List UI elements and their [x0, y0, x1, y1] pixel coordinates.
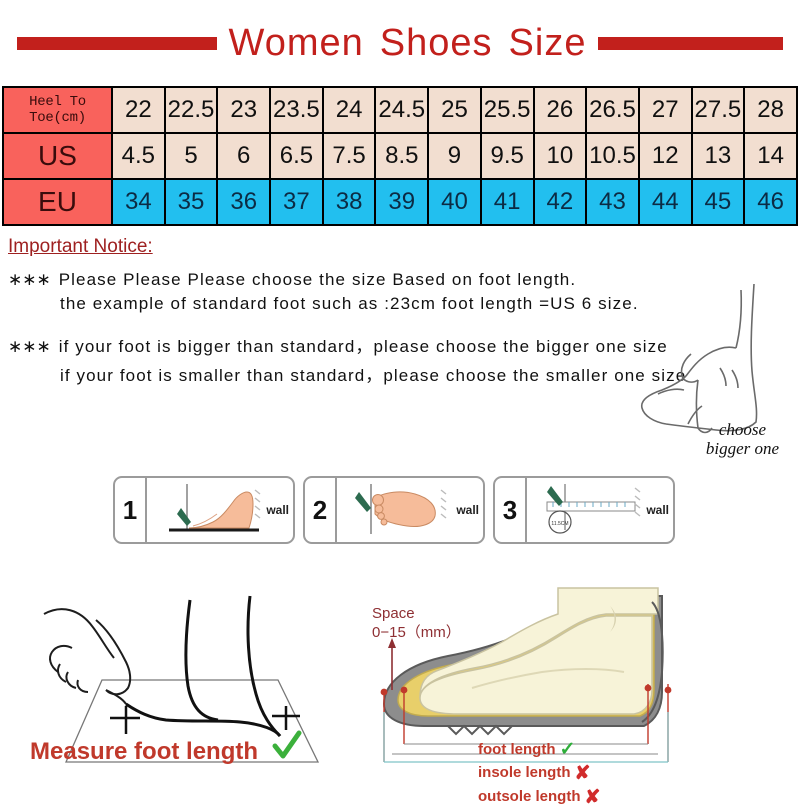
cell-eu-5: 39: [375, 179, 428, 225]
cell-eu-2: 36: [217, 179, 270, 225]
cell-cm-7: 25.5: [481, 87, 534, 133]
choose-bigger-line-1: choose: [690, 420, 795, 439]
legend-outsole-length: outsole length ✘: [478, 786, 600, 809]
cell-eu-0: 34: [112, 179, 165, 225]
space-label-line-1: Space: [372, 604, 461, 623]
notice-spacer: [8, 318, 800, 332]
notice-line-4: if your foot is smaller than standard，pl…: [8, 361, 800, 386]
notice-line-3: ∗∗∗if your foot is bigger than standard，…: [8, 332, 800, 357]
cell-cm-10: 27: [639, 87, 692, 133]
cell-cm-5: 24.5: [375, 87, 428, 133]
cell-cm-6: 25: [428, 87, 481, 133]
cell-cm-4: 24: [323, 87, 376, 133]
measure-foot-caption: Measure foot length: [30, 738, 258, 766]
cell-us-2: 6: [217, 133, 270, 179]
step-wall-label-1: wall: [266, 503, 289, 517]
notice-heading: Important Notice:: [8, 236, 153, 258]
cell-eu-6: 40: [428, 179, 481, 225]
cell-eu-3: 37: [270, 179, 323, 225]
cell-cm-0: 22: [112, 87, 165, 133]
cell-us-3: 6.5: [270, 133, 323, 179]
legend-outsole-length-text: outsole length: [478, 788, 581, 807]
cell-us-6: 9: [428, 133, 481, 179]
step-wall-label-2: wall: [456, 503, 479, 517]
notice-line-2: the example of standard foot such as :23…: [8, 294, 800, 314]
step-illustration-1: wall: [147, 478, 293, 542]
measure-steps-row: 1 wall 2: [113, 476, 675, 544]
legend-outsole-length-cross-icon: ✘: [585, 786, 601, 809]
page-title-word-1: Women: [229, 22, 364, 64]
cell-us-4: 7.5: [323, 133, 376, 179]
cell-us-0: 4.5: [112, 133, 165, 179]
cell-cm-12: 28: [744, 87, 797, 133]
notice-stars-1: ∗∗∗: [8, 270, 51, 289]
length-legend: foot length ✓ insole length ✘ outsole le…: [478, 738, 600, 809]
step-panel-2: 2 wall: [303, 476, 485, 544]
cell-us-11: 13: [692, 133, 745, 179]
cell-cm-3: 23.5: [270, 87, 323, 133]
step-illustration-2: wall: [337, 478, 483, 542]
choose-bigger-line-2: bigger one: [690, 439, 795, 458]
notice-text-3: if your foot is bigger than standard，ple…: [59, 337, 668, 356]
cell-eu-9: 43: [586, 179, 639, 225]
size-chart-table: Heel To Toe(cm) 22 22.5 23 23.5 24 24.5 …: [2, 86, 798, 226]
cell-eu-11: 45: [692, 179, 745, 225]
choose-bigger-caption: choose bigger one: [690, 420, 795, 458]
row-label-us: US: [3, 133, 112, 179]
step-panel-3: 3 11.5CM wall: [493, 476, 675, 544]
step-panel-1: 1 wall: [113, 476, 295, 544]
cell-us-8: 10: [534, 133, 587, 179]
legend-insole-length-text: insole length: [478, 764, 571, 783]
important-notice-section: Important Notice: ∗∗∗Please Please Pleas…: [0, 226, 800, 386]
cell-us-12: 14: [744, 133, 797, 179]
cell-us-5: 8.5: [375, 133, 428, 179]
table-row-us: US 4.5 5 6 6.5 7.5 8.5 9 9.5 10 10.5 12 …: [3, 133, 797, 179]
cell-cm-11: 27.5: [692, 87, 745, 133]
legend-foot-length-check-icon: ✓: [559, 738, 575, 762]
cell-us-10: 12: [639, 133, 692, 179]
step-wall-label-3: wall: [646, 503, 669, 517]
page-title-word-2: Shoes: [380, 22, 493, 64]
legend-insole-length: insole length ✘: [478, 762, 600, 786]
row-label-heel-to-toe: Heel To Toe(cm): [3, 87, 112, 133]
row-label-eu: EU: [3, 179, 112, 225]
cell-eu-10: 44: [639, 179, 692, 225]
step-number-1: 1: [115, 478, 147, 542]
cell-cm-9: 26.5: [586, 87, 639, 133]
step-number-3: 3: [495, 478, 527, 542]
cell-eu-7: 41: [481, 179, 534, 225]
page-title-row: WomenShoesSize: [0, 0, 800, 86]
legend-foot-length-text: foot length: [478, 741, 555, 760]
notice-line-1: ∗∗∗Please Please Please choose the size …: [8, 270, 800, 290]
title-decor-bar-right: [598, 37, 783, 50]
space-label-line-2: 0−15（mm）: [372, 623, 461, 642]
page-title: WomenShoesSize: [229, 22, 587, 65]
cell-us-1: 5: [165, 133, 218, 179]
green-check-icon: [272, 730, 302, 762]
cell-cm-8: 26: [534, 87, 587, 133]
table-row-eu: EU 34 35 36 37 38 39 40 41 42 43 44 45 4…: [3, 179, 797, 225]
cell-eu-1: 35: [165, 179, 218, 225]
cell-us-7: 9.5: [481, 133, 534, 179]
legend-foot-length: foot length ✓: [478, 738, 600, 762]
table-row-cm: Heel To Toe(cm) 22 22.5 23 23.5 24 24.5 …: [3, 87, 797, 133]
legend-insole-length-cross-icon: ✘: [575, 762, 591, 786]
title-decor-bar-left: [17, 37, 217, 50]
cell-eu-12: 46: [744, 179, 797, 225]
notice-text-1: Please Please Please choose the size Bas…: [59, 270, 576, 289]
cell-us-9: 10.5: [586, 133, 639, 179]
cell-cm-2: 23: [217, 87, 270, 133]
ruler-value-label: 11.5CM: [551, 521, 568, 527]
page-title-word-3: Size: [509, 22, 587, 64]
space-dimension-label: Space 0−15（mm）: [372, 604, 461, 642]
cell-eu-8: 42: [534, 179, 587, 225]
cell-cm-1: 22.5: [165, 87, 218, 133]
cell-eu-4: 38: [323, 179, 376, 225]
step-illustration-3: 11.5CM wall: [527, 478, 673, 542]
notice-stars-2: ∗∗∗: [8, 337, 51, 356]
step-number-2: 2: [305, 478, 337, 542]
